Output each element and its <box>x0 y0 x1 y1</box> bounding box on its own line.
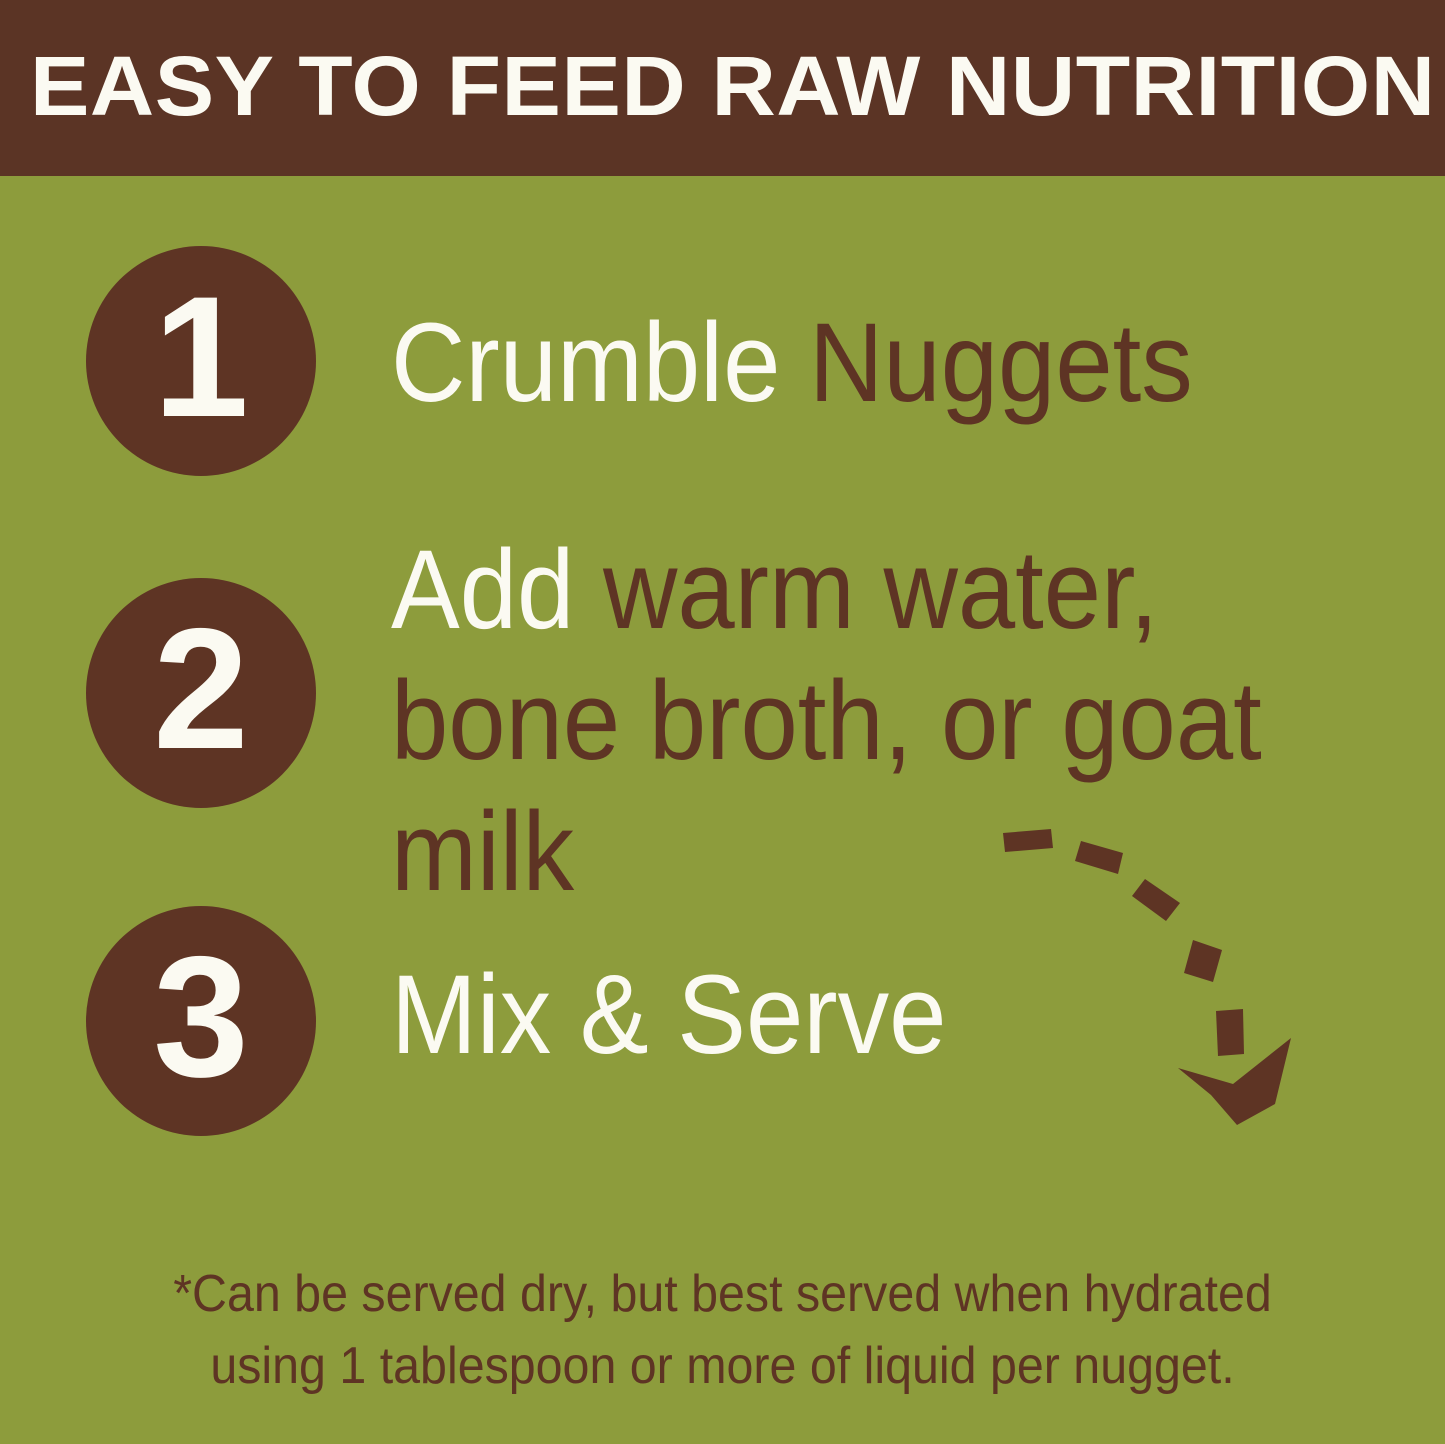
step-number-1: 1 <box>86 246 316 476</box>
footnote-line-1: *Can be served dry, but best served when… <box>51 1258 1395 1330</box>
step-number-2: 2 <box>86 578 316 808</box>
step-text-3: Mix & Serve <box>391 950 946 1080</box>
dashed-curved-arrow-icon <box>975 795 1320 1125</box>
step-badge-2: 2 <box>86 578 316 808</box>
step-text-1: Crumble Nuggets <box>391 298 1193 428</box>
footnote-line-2: using 1 tablespoon or more of liquid per… <box>51 1330 1395 1402</box>
footnote: *Can be served dry, but best served when… <box>51 1258 1395 1402</box>
step-3-highlight: Mix & Serve <box>391 952 946 1077</box>
step-badge-1: 1 <box>86 246 316 476</box>
step-2-highlight: Add <box>391 527 574 652</box>
infographic-canvas: EASY TO FEED RAW NUTRITION 1 Crumble Nug… <box>0 0 1445 1444</box>
step-1-rest: Nuggets <box>780 300 1192 425</box>
page-title: EASY TO FEED RAW NUTRITION <box>30 44 1445 128</box>
step-badge-3: 3 <box>86 906 316 1136</box>
step-1-highlight: Crumble <box>391 300 780 425</box>
step-number-3: 3 <box>86 906 316 1136</box>
header-band: EASY TO FEED RAW NUTRITION <box>0 0 1445 176</box>
